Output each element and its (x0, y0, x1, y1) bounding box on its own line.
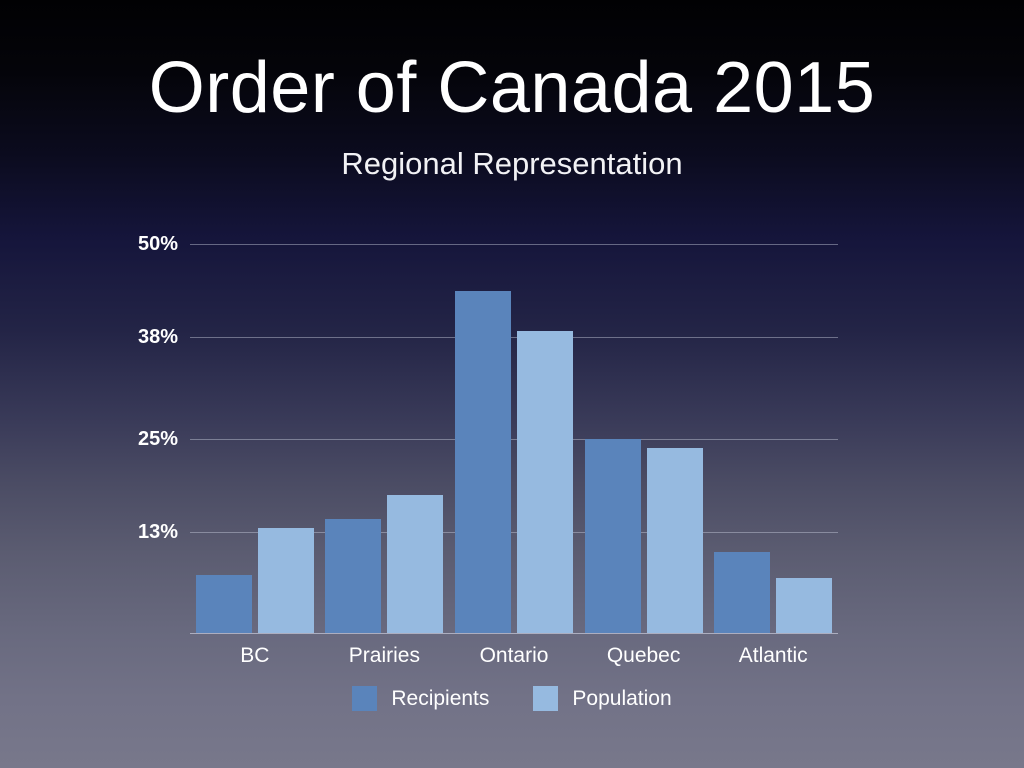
legend-swatch-population (533, 686, 558, 711)
page-subtitle: Regional Representation (0, 148, 1024, 179)
bar-ontario-population (517, 331, 573, 633)
page-title: Order of Canada 2015 (0, 52, 1024, 124)
bar-quebec-recipients (585, 439, 641, 634)
y-tick-label: 13% (108, 522, 178, 542)
bar-atlantic-population (776, 578, 832, 633)
gridline-25 (190, 439, 838, 440)
legend-label-population: Population (572, 688, 671, 709)
legend-item-population: Population (533, 686, 671, 711)
bar-quebec-population (647, 448, 703, 633)
legend-item-recipients: Recipients (352, 686, 489, 711)
chart-legend: RecipientsPopulation (0, 686, 1024, 711)
gridline-50 (190, 244, 838, 245)
bar-atlantic-recipients (714, 552, 770, 633)
slide-canvas: Order of Canada 2015 Regional Representa… (0, 0, 1024, 768)
bar-bc-recipients (196, 575, 252, 633)
legend-swatch-recipients (352, 686, 377, 711)
y-tick-label: 38% (108, 327, 178, 347)
y-tick-label: 50% (108, 234, 178, 254)
y-tick-label: 25% (108, 429, 178, 449)
gridline-38 (190, 337, 838, 338)
chart-plot-area (190, 244, 838, 633)
x-axis-line (190, 633, 838, 634)
legend-label-recipients: Recipients (391, 688, 489, 709)
bar-bc-population (258, 528, 314, 633)
bar-prairies-recipients (325, 519, 381, 633)
bar-prairies-population (387, 495, 443, 633)
x-tick-label-atlantic: Atlantic (693, 645, 853, 666)
bar-ontario-recipients (455, 291, 511, 633)
